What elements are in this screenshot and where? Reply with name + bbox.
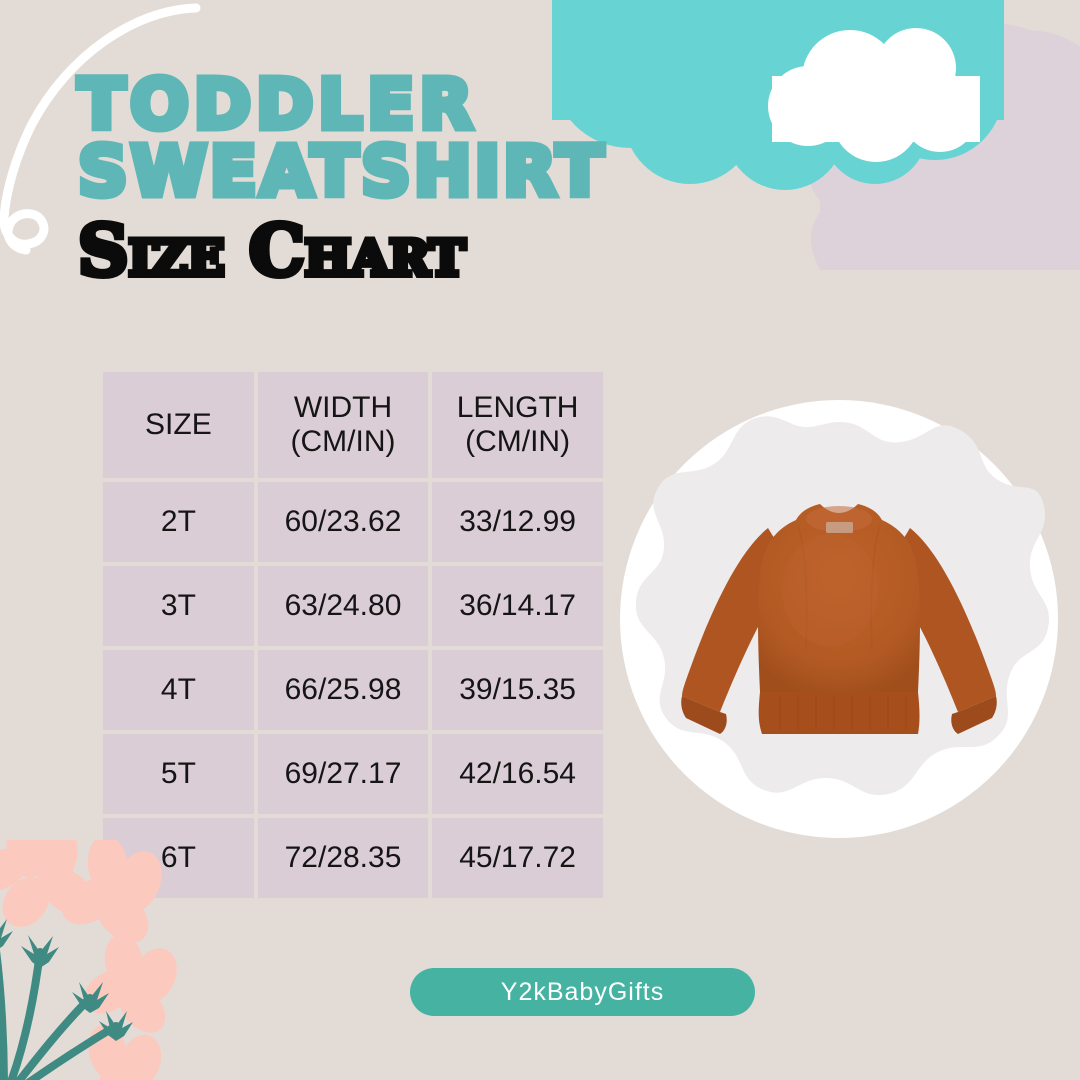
cell-length: 39/15.35 (432, 650, 603, 730)
page-subtitle: Size Chart (78, 214, 758, 288)
page-title: TODDLER SWEATSHIRT Size Chart (78, 72, 758, 287)
cell-length: 42/16.54 (432, 734, 603, 814)
cell-length: 45/17.72 (432, 818, 603, 898)
garment-neck-tag (826, 522, 853, 533)
column-header-length: LENGTH (CM/IN) (432, 372, 603, 478)
cell-size: 4T (103, 650, 254, 730)
cell-size: 2T (103, 482, 254, 562)
size-chart-table: SIZE WIDTH (CM/IN) LENGTH (CM/IN) 2T 60/… (99, 368, 607, 902)
table-header-row: SIZE WIDTH (CM/IN) LENGTH (CM/IN) (103, 372, 603, 478)
column-header-size: SIZE (103, 372, 254, 478)
cell-width: 66/25.98 (258, 650, 428, 730)
cell-width: 60/23.62 (258, 482, 428, 562)
cell-size: 3T (103, 566, 254, 646)
table-row: 3T 63/24.80 36/14.17 (103, 566, 603, 646)
cell-width: 72/28.35 (258, 818, 428, 898)
table-row: 2T 60/23.62 33/12.99 (103, 482, 603, 562)
table-row: 5T 69/27.17 42/16.54 (103, 734, 603, 814)
cell-size: 5T (103, 734, 254, 814)
cell-length: 36/14.17 (432, 566, 603, 646)
size-chart-poster: TODDLER SWEATSHIRT Size Chart SIZE WIDTH… (0, 0, 1080, 1080)
flower-decoration-group (0, 840, 242, 1080)
table-row: 4T 66/25.98 39/15.35 (103, 650, 603, 730)
cell-width: 69/27.17 (258, 734, 428, 814)
title-line-2: SWEATSHIRT (78, 139, 758, 206)
cell-width: 63/24.80 (258, 566, 428, 646)
title-line-1: TODDLER (78, 72, 758, 139)
product-photo (620, 400, 1058, 838)
column-header-width: WIDTH (CM/IN) (258, 372, 428, 478)
cell-length: 33/12.99 (432, 482, 603, 562)
shop-name-badge[interactable]: Y2kBabyGifts (410, 968, 755, 1016)
